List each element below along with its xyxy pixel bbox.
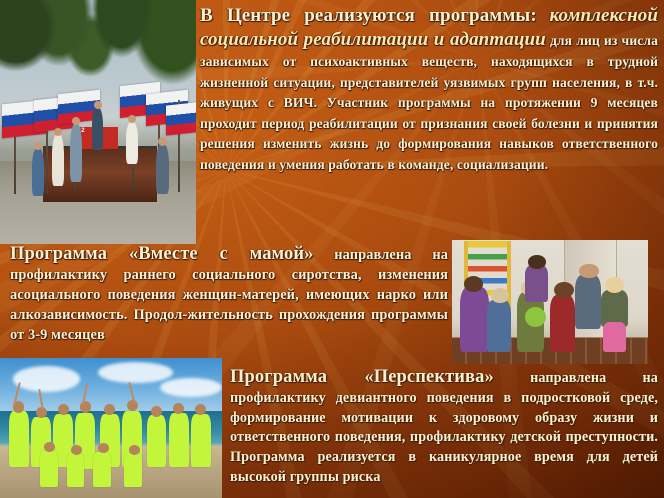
teen-head <box>98 443 109 453</box>
rally-person-head <box>128 115 136 123</box>
teen-head <box>151 406 162 417</box>
rally-person-head <box>54 128 62 136</box>
photo-beach-teens <box>0 358 222 498</box>
text-block-program-together-with-mom: Программа «Вместе с мамой» направлена на… <box>10 244 448 345</box>
child-figure-back-row <box>525 265 549 302</box>
child-figure <box>460 287 489 351</box>
main-text-lead: В Центре реализуются программы: <box>200 5 537 26</box>
perspective-heading: Программа «Перспектива» <box>230 367 494 387</box>
teen-figure <box>9 411 29 467</box>
photo-children-playroom <box>452 240 648 364</box>
rally-person <box>52 134 64 186</box>
child-head <box>554 282 574 298</box>
teen-figure-front-row <box>40 450 58 486</box>
teen-head <box>129 445 140 455</box>
main-text-body: для лиц из числа зависимых от психоактив… <box>200 33 658 172</box>
cloud <box>13 366 80 391</box>
teen-figure-front-row <box>93 452 111 487</box>
child-head <box>528 255 546 269</box>
photo-rally-with-flags <box>0 0 196 244</box>
together-heading: Программа «Вместе с мамой» <box>10 244 313 264</box>
child-legs <box>603 322 627 352</box>
teen-figure <box>191 414 211 467</box>
rally-person-head <box>94 101 102 109</box>
teen-figure <box>147 415 167 467</box>
teen-figure-front-row <box>124 453 142 487</box>
rally-person-head <box>72 117 80 125</box>
teen-figure <box>169 413 189 468</box>
child-figure <box>487 300 511 352</box>
rally-person-head <box>158 137 167 146</box>
rally-person-on-stage <box>92 108 103 150</box>
rally-person <box>70 124 82 182</box>
teen-head <box>127 400 138 411</box>
presentation-slide: В Центре реализуются программы: комплекс… <box>0 0 664 498</box>
rally-person-head <box>34 142 42 150</box>
adult-figure <box>575 275 600 330</box>
text-block-main-programs: В Центре реализуются программы: комплекс… <box>200 4 658 176</box>
toy-ball <box>525 307 547 327</box>
perspective-body: направлена на профилактику девиантного п… <box>230 370 658 485</box>
russian-flag <box>166 102 196 135</box>
child-figure <box>550 295 575 352</box>
teen-figure-front-row <box>67 453 85 487</box>
cloud <box>160 378 222 398</box>
rally-person <box>126 122 138 164</box>
text-block-program-perspective: Программа «Перспектива» направлена на пр… <box>230 368 658 488</box>
rally-person <box>32 148 44 196</box>
rally-person <box>156 144 169 194</box>
child-head <box>491 288 509 303</box>
teen-head <box>71 445 82 455</box>
